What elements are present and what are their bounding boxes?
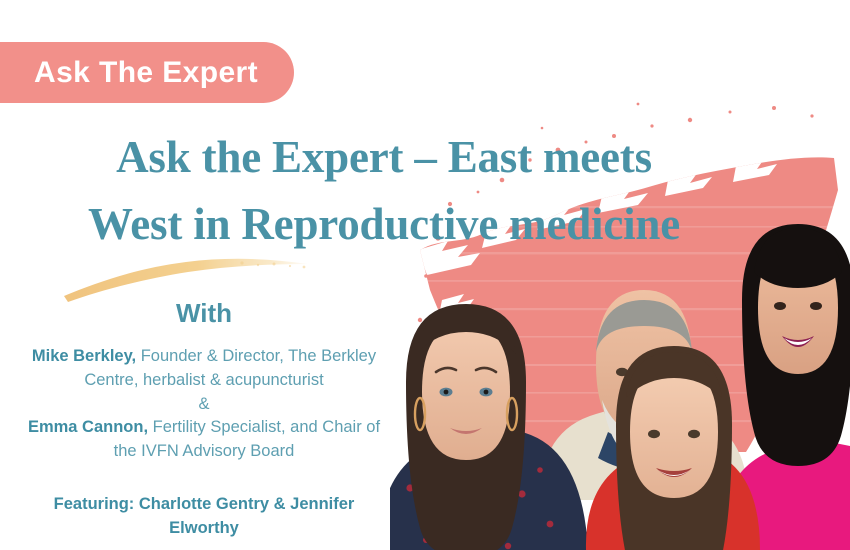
speaker-2-role: Fertility Specialist, and Chair of the I… — [114, 418, 380, 460]
headline-block: Ask the Expert – East meets West in Repr… — [24, 124, 744, 257]
speaker-bio-1: Mike Berkley, Founder & Director, The Be… — [24, 344, 384, 464]
speaker-2-name: Emma Cannon, — [28, 418, 148, 436]
speaker-1-name: Mike Berkley, — [32, 347, 136, 365]
gold-brush-underline-icon — [58, 252, 318, 304]
title-line-2: West in Reproductive medicine — [88, 199, 680, 249]
speakers-copy-block: With Mike Berkley, Founder & Director, T… — [24, 300, 384, 541]
ask-the-expert-badge: Ask The Expert — [0, 42, 294, 103]
promo-banner: Ask The Expert Ask the Expert – East mee… — [0, 0, 850, 550]
artwork-svg — [390, 0, 850, 550]
conjunction-ampersand: & — [24, 393, 384, 415]
title-line-1: Ask the Expert – East meets — [116, 132, 652, 182]
with-heading: With — [24, 300, 384, 326]
artwork-photo-group — [390, 0, 850, 550]
page-title: Ask the Expert – East meets West in Repr… — [24, 124, 744, 257]
badge-label: Ask The Expert — [34, 58, 258, 88]
featuring-line: Featuring: Charlotte Gentry & Jennifer E… — [24, 492, 384, 541]
